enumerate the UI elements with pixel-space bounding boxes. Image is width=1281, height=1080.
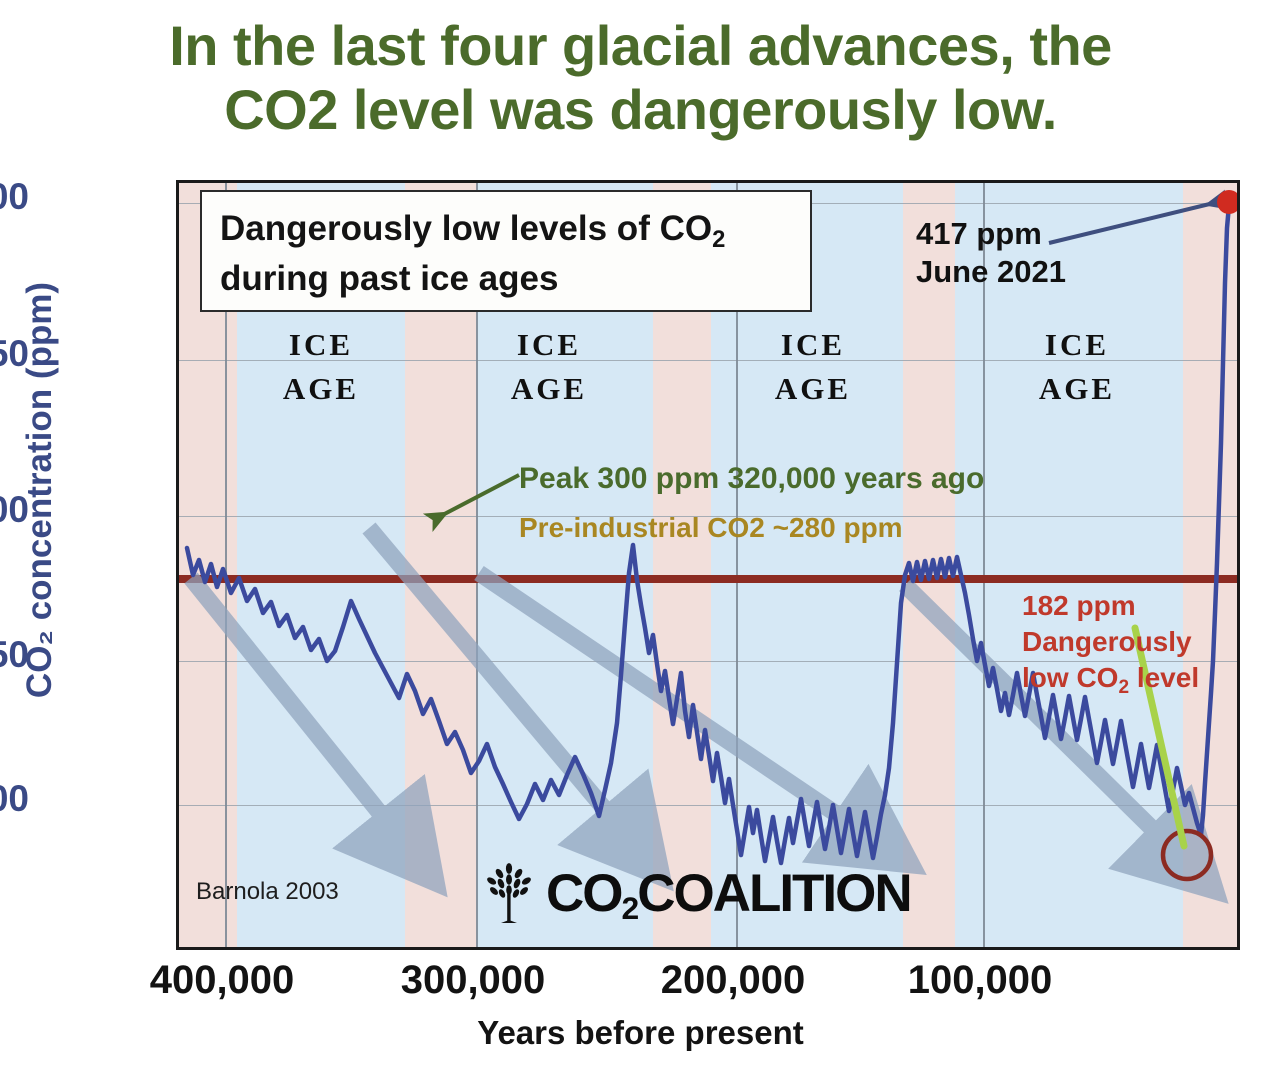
x-tick-400000: 400,000: [150, 958, 295, 1003]
trend-arrow-1: [191, 578, 404, 843]
x-tick-200000: 200,000: [661, 958, 806, 1003]
co2-chart-figure: CO₂ concentration (ppm) 400 350 300 250 …: [0, 0, 1281, 1080]
ice-age-line-2: AGE: [283, 367, 359, 411]
ice-age-label-3: ICE AGE: [775, 323, 851, 411]
ice-age-line-2: AGE: [775, 367, 851, 411]
ice-age-label-1: ICE AGE: [283, 323, 359, 411]
ice-age-line-1: ICE: [775, 323, 851, 367]
co2-series-plot: [179, 183, 1240, 950]
ice-age-line-1: ICE: [1039, 323, 1115, 367]
plot-area: ICE AGE ICE AGE ICE AGE ICE AGE: [176, 180, 1240, 950]
ice-age-label-2: ICE AGE: [511, 323, 587, 411]
ice-age-label-4: ICE AGE: [1039, 323, 1115, 411]
ice-age-line-1: ICE: [283, 323, 359, 367]
x-axis-label: Years before present: [0, 1014, 1281, 1052]
x-tick-300000: 300,000: [401, 958, 546, 1003]
ice-age-line-2: AGE: [511, 367, 587, 411]
modern-co2-marker: [1217, 190, 1240, 214]
peak-300-arrow: [433, 475, 519, 520]
modern-co2-arrow: [1049, 201, 1222, 243]
ice-age-line-1: ICE: [511, 323, 587, 367]
ice-age-line-2: AGE: [1039, 367, 1115, 411]
x-tick-100000: 100,000: [908, 958, 1053, 1003]
